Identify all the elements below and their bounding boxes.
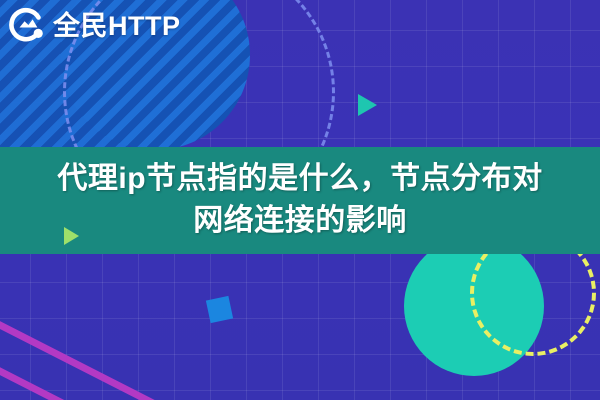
promo-banner: 全民HTTP 代理ip节点指的是什么，节点分布对 网络连接的影响 [0,0,600,400]
small-blue-square-icon [206,296,233,323]
brand-logo[interactable]: 全民HTTP [8,6,181,46]
title-line-1: 代理ip节点指的是什么，节点分布对 [57,159,542,199]
teal-play-triangle-icon [358,94,377,116]
brand-name: 全民HTTP [53,13,181,40]
title-line-2: 网络连接的影响 [193,201,407,241]
page-title: 代理ip节点指的是什么，节点分布对 网络连接的影响 [0,150,600,250]
location-pin-mountain-icon [8,6,48,46]
